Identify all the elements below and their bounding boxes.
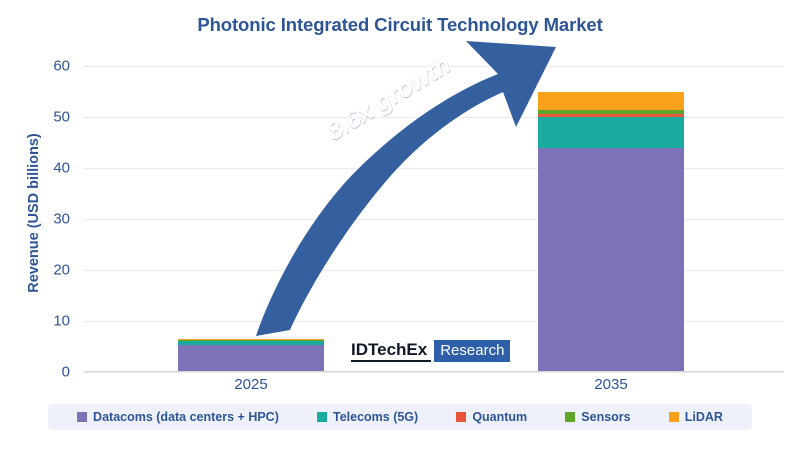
x-axis-tick-label-2035: 2035 [541, 376, 681, 393]
y-axis-tick-label: 50 [34, 109, 70, 126]
legend-item[interactable]: Quantum [456, 410, 527, 424]
plot-area: 20252035 [84, 66, 784, 372]
legend-swatch-icon [456, 412, 466, 422]
legend-label: Telecoms (5G) [333, 410, 418, 424]
legend-label: Sensors [581, 410, 630, 424]
bar-2025[interactable] [178, 66, 324, 372]
y-axis-tick-label: 40 [34, 160, 70, 177]
y-axis-tick-label: 10 [34, 313, 70, 330]
bar-segment[interactable] [538, 92, 684, 110]
logo-research-badge: Research [434, 340, 510, 362]
legend-swatch-icon [317, 412, 327, 422]
chart-title: Photonic Integrated Circuit Technology M… [0, 14, 800, 36]
y-axis-tick-label: 0 [34, 364, 70, 381]
bar-segment[interactable] [538, 117, 684, 148]
x-axis-tick-label-2025: 2025 [181, 376, 321, 393]
bar-2035[interactable] [538, 66, 684, 372]
legend-swatch-icon [565, 412, 575, 422]
legend-item[interactable]: LiDAR [669, 410, 723, 424]
legend-label: Quantum [472, 410, 527, 424]
y-axis-tick-label: 30 [34, 211, 70, 228]
bar-segment[interactable] [178, 345, 324, 372]
y-axis-tick-label: 20 [34, 262, 70, 279]
legend-swatch-icon [77, 412, 87, 422]
bar-segment[interactable] [538, 114, 684, 117]
y-axis-tick-label: 60 [34, 58, 70, 75]
legend-item[interactable]: Datacoms (data centers + HPC) [77, 410, 279, 424]
chart-container: Photonic Integrated Circuit Technology M… [0, 0, 800, 450]
logo-wordmark: IDTechEx [351, 340, 431, 362]
legend-swatch-icon [669, 412, 679, 422]
bar-segment[interactable] [538, 110, 684, 114]
bar-segment[interactable] [538, 148, 684, 372]
gridline [84, 372, 784, 373]
legend-item[interactable]: Sensors [565, 410, 630, 424]
legend-label: LiDAR [685, 410, 723, 424]
legend-label: Datacoms (data centers + HPC) [93, 410, 279, 424]
chart-legend: Datacoms (data centers + HPC)Telecoms (5… [48, 404, 752, 430]
legend-item[interactable]: Telecoms (5G) [317, 410, 418, 424]
x-axis-line [84, 371, 784, 373]
idtechex-logo: IDTechEx Research [351, 340, 510, 362]
bar-segment[interactable] [178, 341, 324, 345]
bar-segment[interactable] [178, 339, 324, 341]
